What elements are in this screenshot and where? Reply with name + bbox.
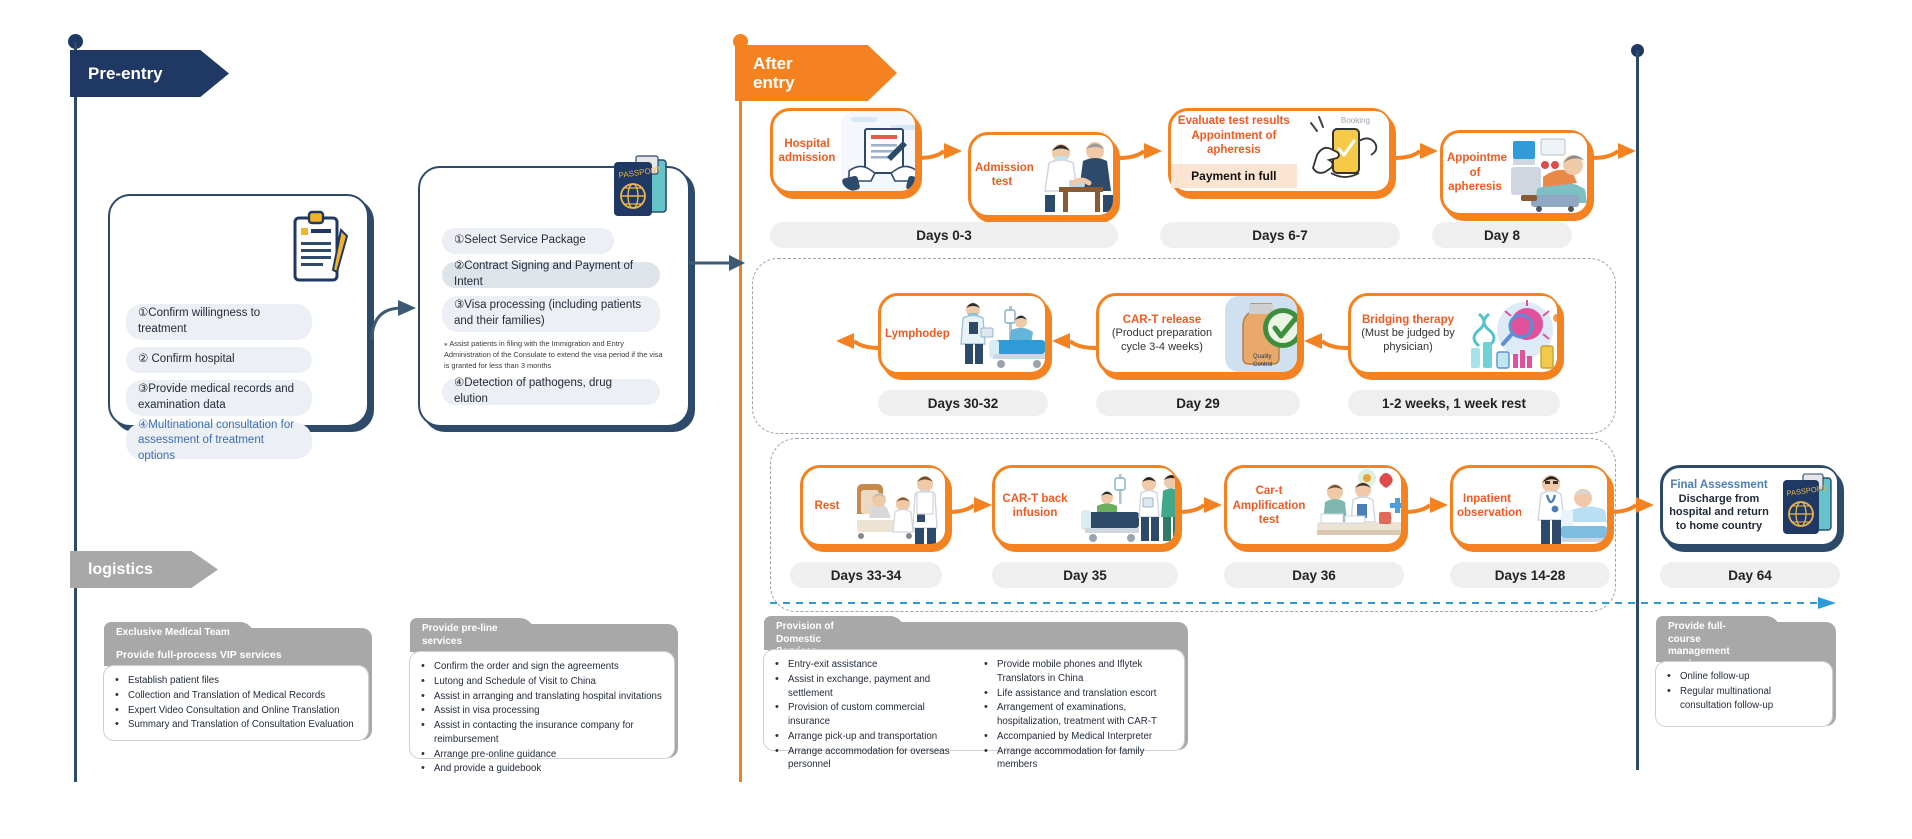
list-item: Arrangement of examinations, hospitaliza… (995, 701, 1174, 729)
flag-logistics: logistics (70, 551, 218, 588)
connector-r1-2 (1118, 140, 1166, 164)
panel-band-label: Provide full-process VIP services (104, 644, 368, 666)
flag-logistics-label: logistics (88, 561, 153, 579)
logistics-panel-exclusive-medical-team: Exclusive Medical Team Provide full-proc… (104, 622, 368, 740)
clipboard-pen-icon (287, 210, 353, 288)
svg-text:Quality: Quality (1253, 354, 1272, 360)
flag-pre-entry-label: Pre-entry (88, 64, 163, 84)
payment-in-full-banner: Payment in full (1171, 164, 1297, 188)
doctor-blood-draw-icon (1033, 135, 1113, 215)
passport-globe-icon: PASSPORT (604, 150, 680, 228)
connector-r3-1 (948, 494, 996, 518)
list-item: Provide mobile phones and Iflytek Transl… (995, 658, 1174, 686)
panel-list-right: Provide mobile phones and Iflytek Transl… (977, 658, 1174, 773)
connector-r1-3 (1394, 140, 1442, 164)
iv-drip-patient-icon (949, 296, 1045, 372)
passport-globe-icon: PASSPORT (1775, 468, 1837, 544)
infusion-ward-icon (1075, 468, 1175, 544)
list-item: Arrange accommodation for family members (995, 745, 1174, 773)
hospital-admission-form-icon (841, 111, 915, 191)
connector-r2-2 (1300, 330, 1348, 354)
step-inpatient-observation[interactable]: Inpatient observation (1450, 465, 1610, 547)
chip-days-14-28: Days 14-28 (1450, 562, 1610, 588)
connector-r2-1 (1048, 330, 1096, 354)
step-cart-back-infusion-label: CAR-T back infusion (995, 492, 1075, 521)
apheresis-chair-icon (1507, 133, 1587, 213)
step-cart-release-label: CAR-T release (Product preparation cycle… (1099, 313, 1225, 355)
panel-list: Confirm the order and sign the agreement… (414, 660, 664, 777)
svg-text:Control: Control (1253, 362, 1272, 368)
connector-r3-to-final (1610, 494, 1658, 518)
step-admission-test[interactable]: Admission test (968, 132, 1116, 218)
step-evaluate-results-label: Evaluate test results Appointment of aph… (1171, 114, 1297, 157)
chip-day-35: Day 35 (992, 562, 1178, 588)
panel-tab-label: Provide full-course management services (1656, 616, 1780, 662)
panel-body: Entry-exit assistance Assist in exchange… (764, 650, 1184, 750)
panel-list-left: Entry-exit assistance Assist in exchange… (768, 658, 965, 773)
connector-service-to-after-entry (689, 250, 747, 276)
consultation-chart-icon (1311, 468, 1401, 544)
step-cart-amplification-test[interactable]: Car-t Amplification test (1224, 465, 1404, 547)
list-item: Arrange pre-online guidance (432, 748, 664, 762)
step-bridging-therapy-label: Bridging therapy (Must be judged by phys… (1351, 313, 1465, 355)
step-final-assessment[interactable]: Final Assessment Discharge from hospital… (1660, 465, 1840, 547)
list-item: Accompanied by Medical Interpreter (995, 730, 1174, 744)
list-item: And provide a guidebook (432, 762, 664, 776)
list-item: Confirm the order and sign the agreement… (432, 660, 664, 674)
chip-day-64: Day 64 (1660, 562, 1840, 588)
logistics-panel-full-course-management: Provide full-course management services … (1656, 616, 1832, 726)
doctor-bedside-icon (1521, 468, 1607, 544)
list-item: Assist in exchange, payment and settleme… (786, 673, 965, 701)
flag-pre-entry: Pre-entry (70, 50, 229, 97)
step-bridging-therapy[interactable]: Bridging therapy (Must be judged by phys… (1348, 293, 1560, 375)
chip-day-29: Day 29 (1096, 390, 1300, 416)
list-item: Life assistance and translation escort (995, 687, 1174, 701)
step-cart-amplification-test-label: Car-t Amplification test (1227, 484, 1311, 527)
list-item: Expert Video Consultation and Online Tra… (126, 704, 358, 718)
connector-r3-3 (1404, 494, 1452, 518)
service-item-2[interactable]: ②Contract Signing and Payment of Intent (442, 262, 660, 288)
list-item: Assist in contacting the insurance compa… (432, 719, 664, 747)
list-item: Establish patient files (126, 674, 358, 688)
step-hospital-admission-label: Hospital admission (773, 137, 841, 166)
list-item: Lutong and Schedule of Visit to China (432, 675, 664, 689)
chip-days-33-34: Days 33-34 (790, 562, 942, 588)
quality-control-bag-icon: Quality Control (1225, 296, 1297, 372)
panel-body: Establish patient files Collection and T… (104, 666, 368, 740)
step-inpatient-observation-label: Inpatient observation (1453, 492, 1521, 521)
panel-tab-label: Provision of Domestic Services (764, 616, 904, 650)
step-lymphodepletion[interactable]: Lymphodepletion (878, 293, 1048, 375)
pre-entry-item-4[interactable]: ④Multinational consultation for assessme… (126, 423, 312, 459)
panel-list: Online follow-up Regular multinational c… (1660, 670, 1822, 713)
logistics-panel-domestic-services: Provision of Domestic Services Entry-exi… (764, 616, 1184, 750)
list-item: Arrange pick-up and transportation (786, 730, 965, 744)
pre-entry-card: ①Confirm willingness to treatment ② Conf… (108, 194, 369, 427)
step-final-assessment-title: Final Assessment (1670, 479, 1767, 491)
panel-tab-label: Exclusive Medical Team (104, 622, 254, 644)
service-package-card: PASSPORT ①Select Service Package ②Contra… (418, 166, 690, 427)
after-entry-timeline-line (739, 42, 742, 782)
step-evaluate-results[interactable]: Evaluate test results Appointment of aph… (1168, 108, 1392, 194)
flag-after-entry: After entry (735, 45, 897, 101)
step-cart-back-infusion[interactable]: CAR-T back infusion (992, 465, 1178, 547)
connector-r2-out-left (832, 330, 880, 354)
panel-body: Confirm the order and sign the agreement… (410, 652, 674, 758)
step-appointment-apheresis[interactable]: Appointment of apheresis (1440, 130, 1590, 216)
chip-1-2-weeks: 1-2 weeks, 1 week rest (1348, 390, 1560, 416)
step-cart-release-sub: (Product preparation cycle 3-4 weeks) (1103, 327, 1221, 355)
list-item: Online follow-up (1678, 670, 1822, 684)
list-item: Arrange accommodation for overseas perso… (786, 745, 965, 773)
mobile-booking-icon: Booking (1297, 111, 1389, 191)
step-cart-release-title: CAR-T release (1123, 314, 1202, 326)
service-item-4[interactable]: ④Detection of pathogens, drug elution (442, 379, 660, 405)
step-appointment-apheresis-label: Appointment of apheresis (1443, 151, 1507, 194)
list-item: Assist in arranging and translating hosp… (432, 690, 664, 704)
step-rest[interactable]: Rest (800, 465, 948, 547)
panel-list: Establish patient files Collection and T… (108, 674, 358, 733)
step-lymphodepletion-label: Lymphodepletion (881, 327, 949, 341)
chip-day-8: Day 8 (1432, 222, 1572, 248)
service-visa-footnote: ⁎ Assist patients in filing with the Imm… (444, 338, 664, 371)
list-item: Collection and Translation of Medical Re… (126, 689, 358, 703)
connector-r1-out (1592, 140, 1640, 164)
step-bridging-therapy-title: Bridging therapy (1362, 314, 1454, 326)
step-admission-test-label: Admission test (971, 161, 1033, 190)
chip-day-36: Day 36 (1224, 562, 1404, 588)
step-hospital-admission[interactable]: Hospital admission (770, 108, 918, 194)
logistics-panel-pre-line-services: Provide pre-line services Confirm the or… (410, 618, 674, 758)
step-rest-label: Rest (803, 499, 851, 513)
connector-r1-1 (918, 140, 966, 164)
panel-body: Online follow-up Regular multinational c… (1656, 662, 1832, 726)
chip-days-6-7: Days 6-7 (1160, 222, 1400, 248)
flag-after-entry-label: After entry (753, 54, 795, 92)
pre-entry-timeline-line (74, 42, 77, 782)
patient-bed-doctor-icon (851, 468, 945, 544)
chip-days-30-32: Days 30-32 (878, 390, 1048, 416)
step-final-assessment-label: Final Assessment Discharge from hospital… (1663, 478, 1775, 534)
service-item-1[interactable]: ①Select Service Package (442, 228, 614, 254)
pre-entry-item-3[interactable]: ③Provide medical records and examination… (126, 380, 312, 416)
list-item: Assist in visa processing (432, 704, 664, 718)
pre-entry-item-2[interactable]: ② Confirm hospital (126, 347, 312, 373)
lab-research-icon (1465, 296, 1557, 372)
list-item: Regular multinational consultation follo… (1678, 685, 1822, 713)
step-cart-release[interactable]: CAR-T release (Product preparation cycle… (1096, 293, 1300, 375)
service-item-3[interactable]: ③Visa processing (including patients and… (442, 296, 660, 332)
chip-days-0-3: Days 0-3 (770, 222, 1118, 248)
row3-to-final-dashed-arrow (770, 596, 1840, 610)
list-item: Entry-exit assistance (786, 658, 965, 672)
step-bridging-therapy-sub: (Must be judged by physician) (1355, 327, 1461, 355)
connector-r3-2 (1178, 494, 1226, 518)
pre-entry-item-1[interactable]: ①Confirm willingness to treatment (126, 304, 312, 340)
list-item: Provision of custom commercial insurance (786, 701, 965, 729)
svg-text:Booking: Booking (1341, 116, 1370, 125)
step-final-assessment-body: Discharge from hospital and return to ho… (1667, 493, 1771, 534)
panel-tab-label: Provide pre-line services (410, 618, 534, 652)
list-item: Summary and Translation of Consultation … (126, 718, 358, 732)
